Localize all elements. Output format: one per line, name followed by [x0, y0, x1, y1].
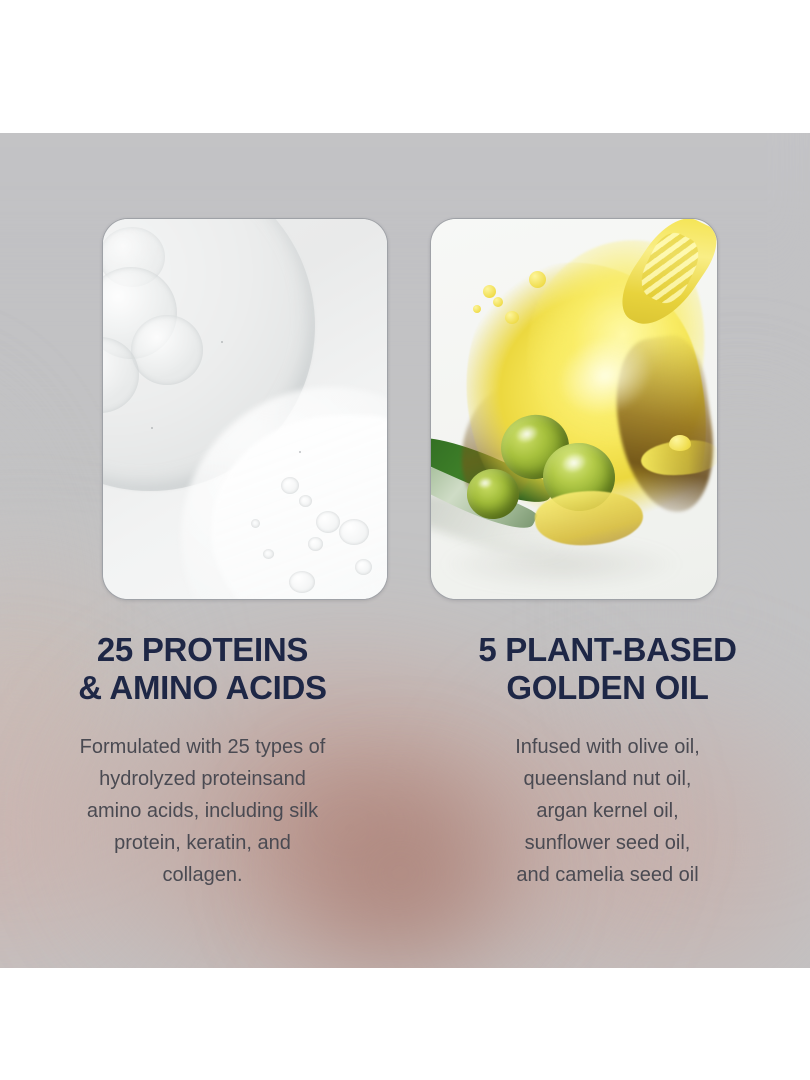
body-line: hydrolyzed proteinsand — [53, 763, 353, 795]
product-feature-page: 25 PROTEINS & AMINO ACIDS Formulated wit… — [0, 0, 810, 1080]
oil-droplet — [505, 311, 519, 324]
cream-micro-bubble — [251, 519, 260, 528]
cream-speck — [221, 341, 223, 343]
cream-micro-bubble — [289, 571, 315, 593]
body-line: argan kernel oil, — [452, 795, 764, 827]
headline-line: 25 PROTEINS — [53, 631, 353, 669]
oil-droplet — [483, 285, 496, 298]
feature-card-row — [0, 133, 810, 523]
body-line: protein, keratin, and — [53, 827, 353, 859]
body-line: Infused with olive oil, — [452, 731, 764, 763]
feature-column-golden-oil: 5 PLANT-BASED GOLDEN OIL Infused with ol… — [405, 631, 810, 891]
cream-micro-bubble — [339, 519, 369, 545]
headline-line: & AMINO ACIDS — [53, 669, 353, 707]
headline-line: GOLDEN OIL — [452, 669, 764, 707]
feature-banner: 25 PROTEINS & AMINO ACIDS Formulated wit… — [0, 133, 810, 968]
oil-droplet — [493, 297, 503, 307]
oil-droplet — [669, 435, 691, 451]
cream-micro-bubble — [281, 477, 299, 494]
feature-body-golden-oil: Infused with olive oil, queensland nut o… — [452, 731, 764, 891]
olive-oil-splash-photo — [431, 219, 717, 599]
feature-copy-row: 25 PROTEINS & AMINO ACIDS Formulated wit… — [0, 631, 810, 891]
cream-speck — [299, 451, 301, 453]
feature-card-golden-oil[interactable] — [430, 218, 718, 600]
body-line: queensland nut oil, — [452, 763, 764, 795]
feature-body-proteins: Formulated with 25 types of hydrolyzed p… — [53, 731, 353, 891]
cream-bubble — [131, 315, 203, 385]
headline-line: 5 PLANT-BASED — [452, 631, 764, 669]
feature-column-proteins: 25 PROTEINS & AMINO ACIDS Formulated wit… — [0, 631, 405, 891]
cream-micro-bubble — [263, 549, 274, 559]
cream-micro-bubble — [299, 495, 312, 507]
cream-micro-bubble — [355, 559, 372, 575]
feature-card-proteins[interactable] — [102, 218, 388, 600]
body-line: Formulated with 25 types of — [53, 731, 353, 763]
feature-headline-proteins: 25 PROTEINS & AMINO ACIDS — [53, 631, 353, 708]
body-line: collagen. — [53, 859, 353, 891]
cream-micro-bubble — [316, 511, 340, 533]
body-line: and camelia seed oil — [452, 859, 764, 891]
cream-micro-bubble — [308, 537, 323, 551]
feature-headline-golden-oil: 5 PLANT-BASED GOLDEN OIL — [452, 631, 764, 708]
body-line: amino acids, including silk — [53, 795, 353, 827]
body-line: sunflower seed oil, — [452, 827, 764, 859]
oil-droplet — [473, 305, 481, 313]
cream-texture-photo — [103, 219, 387, 599]
cream-speck — [151, 427, 153, 429]
oil-droplet — [529, 271, 546, 288]
